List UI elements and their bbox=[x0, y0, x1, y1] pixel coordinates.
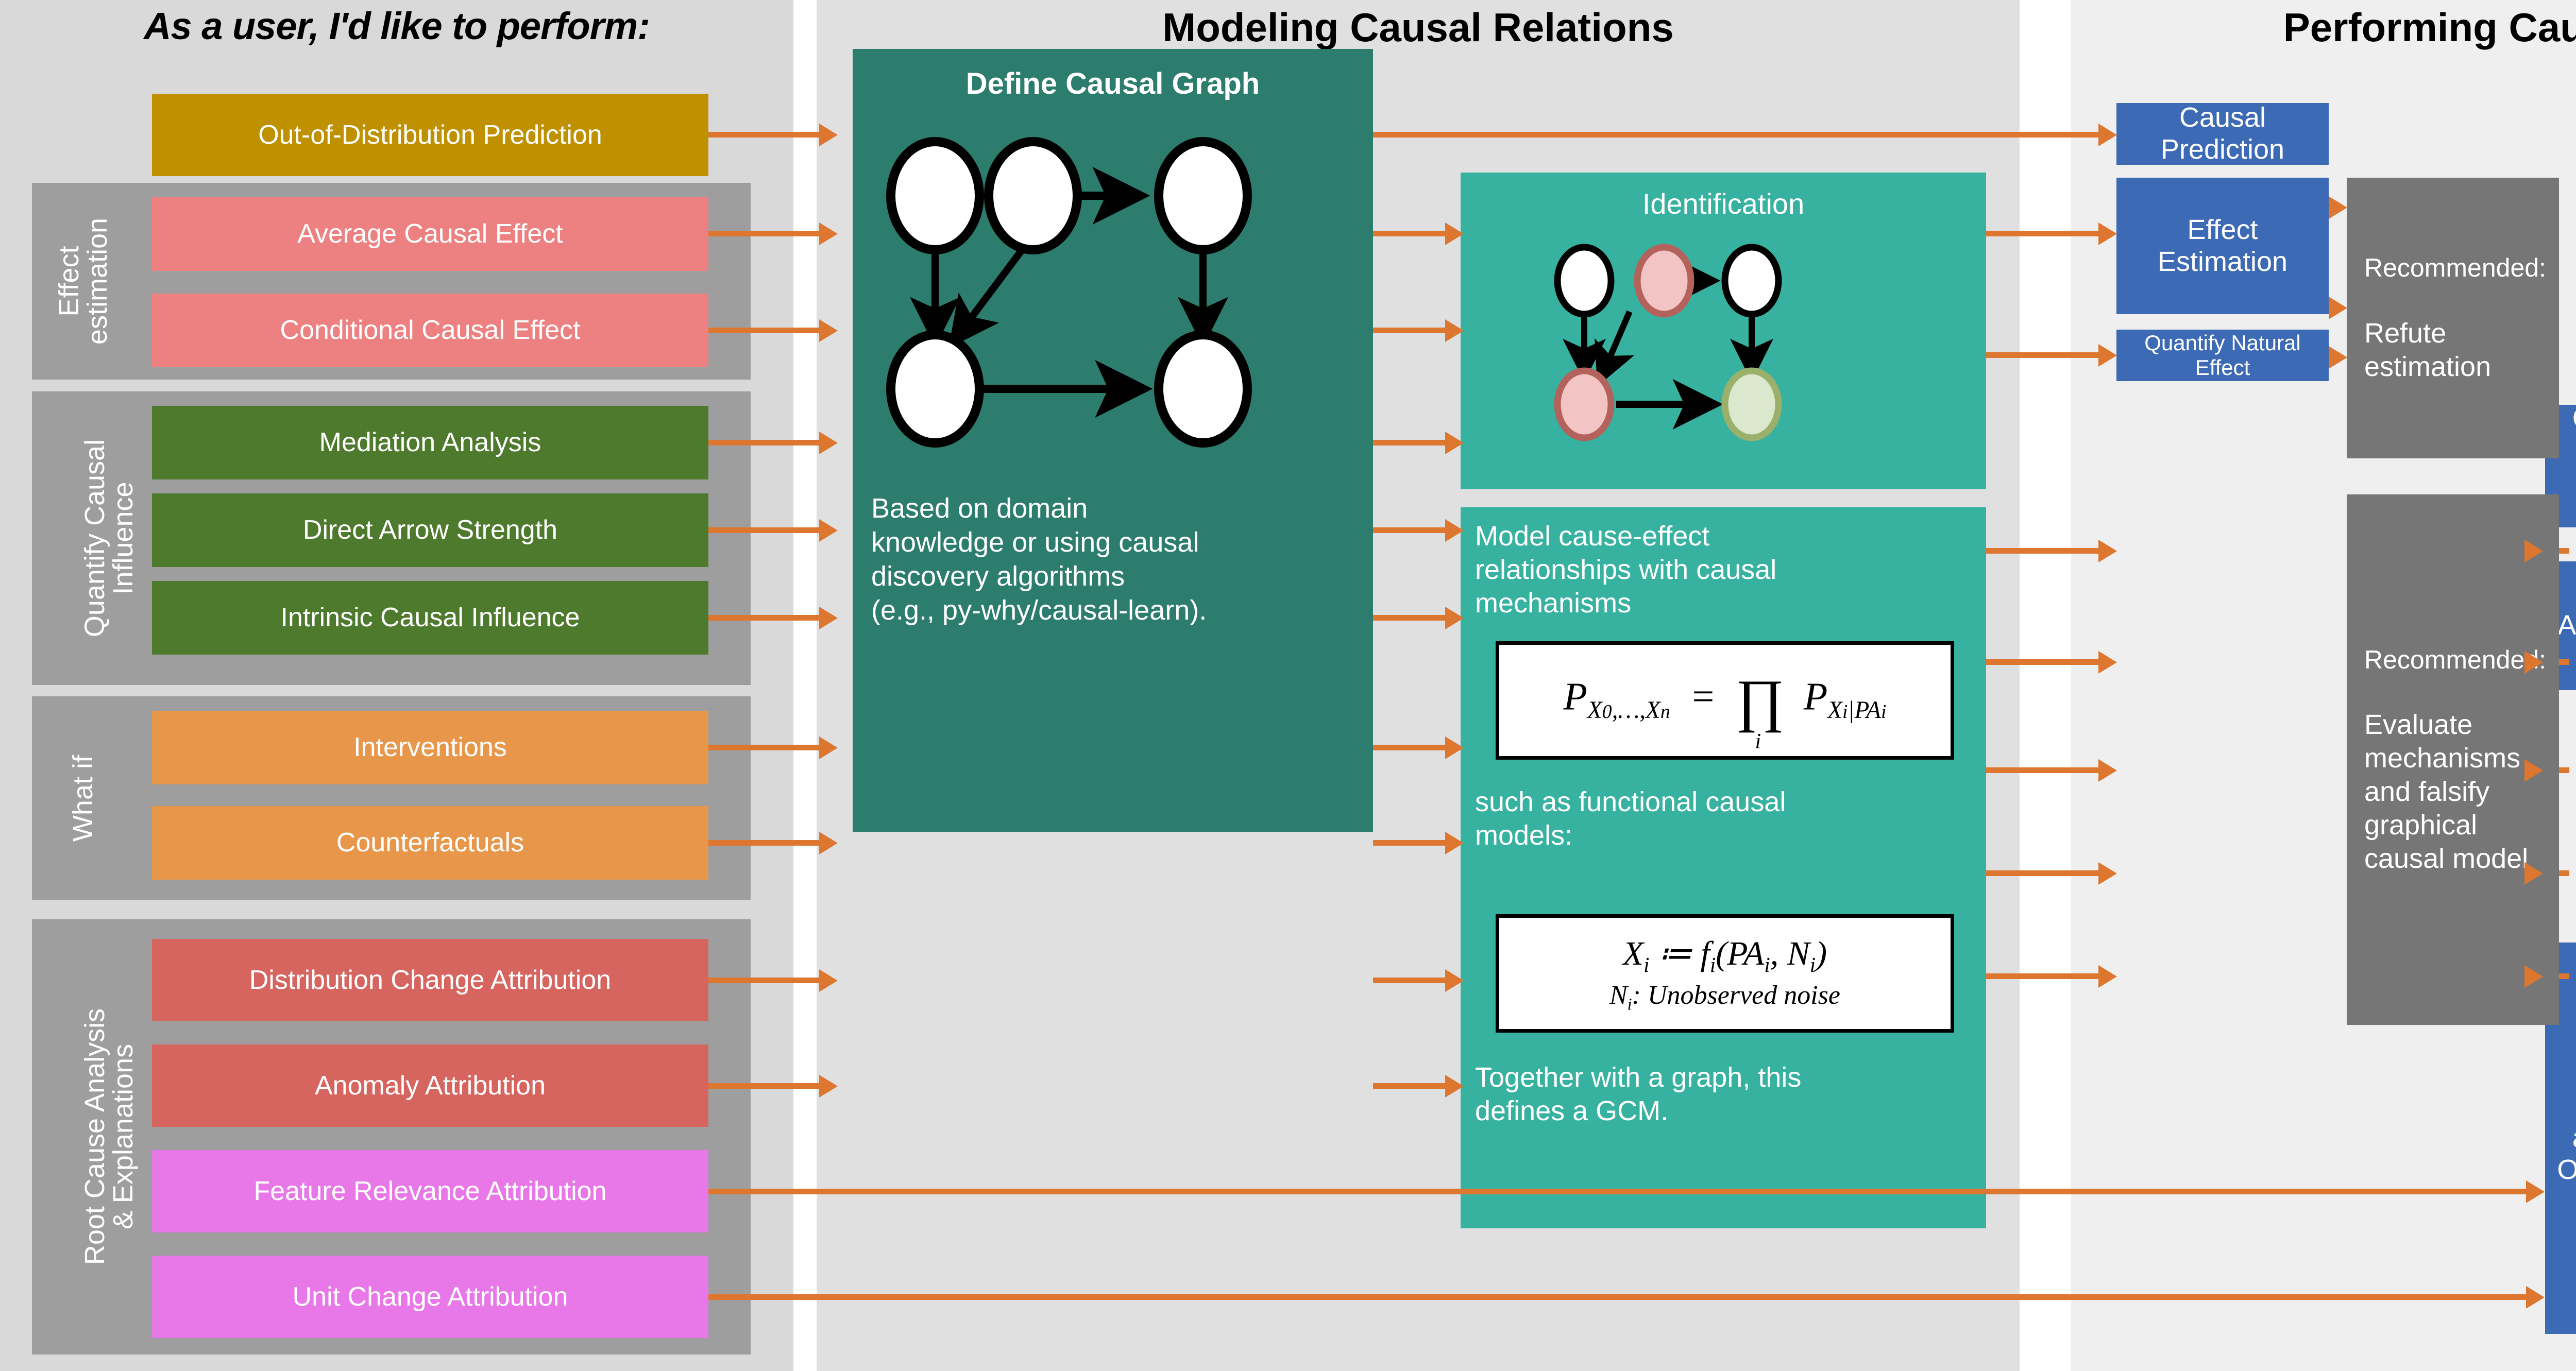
connector-evaluate-to-what-if-1 bbox=[2559, 767, 2569, 773]
connector-mechanism-to-recommendation-4 bbox=[1986, 870, 2098, 876]
group-label-effect-estimation: Effect estimation bbox=[58, 191, 109, 371]
graph-node bbox=[1159, 142, 1247, 250]
item-label: Average Causal Effect bbox=[297, 220, 563, 248]
connector-unit-change-long bbox=[708, 1294, 2526, 1300]
panel-left-title: As a user, I'd like to perform: bbox=[0, 4, 793, 48]
connector-arrowhead bbox=[2524, 759, 2543, 782]
connector-das-to-define bbox=[708, 527, 819, 533]
item-label: Unit Change Attribution bbox=[293, 1283, 568, 1311]
connector-arrowhead bbox=[819, 607, 838, 629]
connector-arrowhead bbox=[819, 319, 838, 342]
connector-define-to-mechanism-4 bbox=[1373, 745, 1445, 750]
task-effect-estimation[interactable]: Effect Estimation bbox=[2116, 178, 2329, 314]
item-distribution-change-attribution[interactable]: Distribution Change Attribution bbox=[152, 939, 708, 1021]
connector-arrowhead bbox=[819, 124, 838, 146]
item-conditional-causal-effect[interactable]: Conditional Causal Effect bbox=[152, 294, 708, 367]
connector-arrowhead bbox=[819, 432, 838, 454]
connector-arrowhead bbox=[2098, 540, 2117, 562]
connector-arrowhead bbox=[2526, 1180, 2545, 1203]
graph-node bbox=[989, 142, 1077, 250]
formula-structural-equation: Xi ≔ fi(PAi, Ni) Ni: Unobserved noise bbox=[1496, 914, 1954, 1033]
identification-box: Identification bbox=[1461, 173, 1986, 489]
formula-sem-line2: Ni: Unobserved noise bbox=[1609, 980, 1840, 1014]
task-label: Root-Causing and Explaining Observed Eff… bbox=[2553, 1091, 2576, 1186]
connector-arrowhead bbox=[1445, 319, 1464, 342]
graph-node bbox=[1725, 247, 1778, 314]
connector-ici-to-define bbox=[708, 615, 819, 621]
connector-counterfactuals-to-define bbox=[708, 840, 819, 846]
define-causal-graph-title: Define Causal Graph bbox=[853, 66, 1373, 101]
item-average-causal-effect[interactable]: Average Causal Effect bbox=[152, 197, 708, 271]
connector-identification-to-quantify-natural-effect bbox=[1986, 352, 2098, 358]
task-quantify-natural-effect[interactable]: Quantify Natural Effect bbox=[2116, 330, 2329, 381]
connector-mechanism-to-recommendation-2 bbox=[1986, 659, 2098, 665]
task-label: Quantify Natural Effect bbox=[2125, 331, 2320, 380]
connector-mediation-to-define bbox=[708, 440, 819, 445]
recommendation-refute-estimation: Recommended: Refute estimation bbox=[2347, 178, 2559, 458]
item-label: Interventions bbox=[353, 733, 507, 762]
connector-define-to-mechanism-5 bbox=[1373, 840, 1445, 846]
recommendation-body: Evaluate mechanisms and falsify graphica… bbox=[2364, 708, 2546, 875]
recommendation-lead: Recommended: bbox=[2364, 252, 2546, 283]
connector-arrowhead bbox=[2524, 862, 2543, 885]
formula-sem-line1: Xi ≔ fi(PAi, Ni) bbox=[1623, 933, 1827, 977]
task-label: Causal Prediction bbox=[2125, 102, 2320, 165]
connector-mechanism-to-recommendation-1 bbox=[1986, 548, 2098, 554]
connector-feature-relevance-long bbox=[708, 1189, 2526, 1194]
connector-define-to-causal-prediction bbox=[1373, 132, 2098, 138]
connector-arrowhead bbox=[2329, 346, 2347, 369]
connector-define-to-identification-1 bbox=[1373, 231, 1445, 236]
connector-arrowhead bbox=[2524, 540, 2543, 562]
recommendation-body: Refute estimation bbox=[2364, 317, 2546, 384]
graph-node bbox=[1557, 247, 1611, 314]
connector-arrowhead bbox=[1445, 969, 1464, 992]
item-label: Conditional Causal Effect bbox=[280, 316, 581, 345]
connector-arrowhead bbox=[2098, 651, 2117, 674]
connector-define-to-mechanism-6 bbox=[1373, 978, 1445, 983]
item-counterfactuals[interactable]: Counterfactuals bbox=[152, 806, 708, 880]
connector-arrowhead bbox=[2329, 297, 2347, 319]
connector-arrowhead bbox=[2526, 1286, 2545, 1309]
item-label: Out-of-Distribution Prediction bbox=[258, 121, 602, 149]
connector-define-to-mechanism-2 bbox=[1373, 527, 1445, 533]
group-label-quantify-causal-influence: Quantify Causal Influence bbox=[83, 391, 135, 685]
item-label: Mediation Analysis bbox=[319, 429, 541, 457]
connector-arrowhead bbox=[2098, 759, 2117, 782]
item-interventions[interactable]: Interventions bbox=[152, 711, 708, 784]
connector-arrowhead bbox=[1445, 432, 1464, 454]
identification-graph-svg bbox=[1553, 224, 1935, 482]
connector-arrowhead bbox=[2524, 651, 2543, 674]
mechanism-text-top: Model cause-effect relationships with ca… bbox=[1475, 520, 1970, 620]
connector-define-to-mechanism-7 bbox=[1373, 1083, 1445, 1089]
panel-right-title: Performing Causal Tasks bbox=[2071, 4, 2576, 51]
connector-arrowhead bbox=[1445, 607, 1464, 629]
define-causal-graph-note: Based on domain knowledge or using causa… bbox=[871, 492, 1350, 628]
graph-node bbox=[891, 335, 979, 443]
connector-cce-to-define bbox=[708, 328, 819, 333]
graph-node bbox=[1159, 335, 1247, 443]
item-label: Intrinsic Causal Influence bbox=[281, 604, 580, 632]
connector-arrowhead bbox=[1445, 519, 1464, 542]
causal-mechanism-box: Model cause-effect relationships with ca… bbox=[1461, 507, 1986, 1228]
connector-arrowhead bbox=[2098, 965, 2117, 988]
connector-dca-to-define bbox=[708, 978, 819, 983]
item-label: Counterfactuals bbox=[336, 829, 524, 857]
group-label-root-cause-analysis: Root Cause Analysis & Explanations bbox=[83, 928, 135, 1345]
item-out-of-distribution-prediction[interactable]: Out-of-Distribution Prediction bbox=[152, 94, 708, 176]
connector-arrowhead bbox=[1445, 832, 1464, 854]
connector-anomaly-to-define bbox=[708, 1083, 819, 1089]
item-direct-arrow-strength[interactable]: Direct Arrow Strength bbox=[152, 493, 708, 567]
connector-arrowhead bbox=[2524, 965, 2543, 988]
connector-evaluate-to-what-if-2 bbox=[2559, 870, 2569, 876]
item-label: Anomaly Attribution bbox=[315, 1072, 546, 1100]
recommendation-lead: Recommended: bbox=[2364, 644, 2546, 675]
connector-arrowhead bbox=[819, 736, 838, 759]
connector-arrowhead bbox=[819, 1075, 838, 1098]
item-feature-relevance-attribution[interactable]: Feature Relevance Attribution bbox=[152, 1150, 708, 1232]
connector-arrowhead bbox=[2098, 862, 2117, 885]
panel-mid-title: Modeling Causal Relations bbox=[817, 4, 2020, 51]
item-unit-change-attribution[interactable]: Unit Change Attribution bbox=[152, 1256, 708, 1338]
connector-arrowhead bbox=[819, 832, 838, 854]
item-intrinsic-causal-influence[interactable]: Intrinsic Causal Influence bbox=[152, 581, 708, 655]
define-causal-graph-box: Define Causal Graph Based on domain know… bbox=[853, 49, 1373, 832]
connector-define-to-mechanism-1 bbox=[1373, 440, 1445, 445]
connector-arrowhead bbox=[2098, 124, 2117, 146]
formula-joint-factorization: PX0,…,Xn = ∏ i PXi|PAi bbox=[1496, 641, 1954, 760]
connector-arrowhead bbox=[819, 519, 838, 542]
mechanism-text-bottom: Together with a graph, this defines a GC… bbox=[1475, 1061, 1970, 1128]
connector-arrowhead bbox=[1445, 1075, 1464, 1098]
graph-node bbox=[1725, 371, 1778, 438]
connector-arrowhead bbox=[2329, 196, 2347, 219]
connector-arrowhead bbox=[819, 969, 838, 992]
connector-arrowhead bbox=[1445, 222, 1464, 245]
connector-mechanism-to-recommendation-5 bbox=[1986, 973, 2098, 979]
connector-arrowhead bbox=[1445, 736, 1464, 759]
item-label: Direct Arrow Strength bbox=[303, 516, 557, 544]
diagram-canvas: As a user, I'd like to perform: Out-of-D… bbox=[0, 0, 2576, 1371]
group-label-what-if: What if bbox=[58, 724, 109, 873]
graph-node bbox=[891, 142, 979, 250]
task-label: Effect Estimation bbox=[2125, 214, 2320, 278]
connector-identification-to-effect-estimation bbox=[1986, 231, 2098, 236]
identification-title: Identification bbox=[1461, 187, 1986, 220]
connector-evaluate-to-quantify-arrow-2 bbox=[2559, 659, 2569, 665]
graph-node bbox=[1557, 371, 1611, 438]
formula-joint-text: PX0,…,Xn = ∏ i PXi|PAi bbox=[1564, 666, 1887, 734]
item-mediation-analysis[interactable]: Mediation Analysis bbox=[152, 406, 708, 479]
connector-evaluate-to-quantify-arrow-1 bbox=[2559, 548, 2569, 554]
item-anomaly-attribution[interactable]: Anomaly Attribution bbox=[152, 1044, 708, 1127]
connector-arrowhead bbox=[2098, 222, 2117, 245]
causal-graph-svg bbox=[863, 116, 1363, 487]
connector-define-to-identification-2 bbox=[1373, 328, 1445, 333]
connector-ace-to-define bbox=[708, 231, 819, 236]
connector-arrowhead bbox=[2098, 344, 2117, 367]
mechanism-text-middle: such as functional causal models: bbox=[1475, 785, 1970, 852]
item-label: Feature Relevance Attribution bbox=[253, 1177, 606, 1206]
connector-define-to-mechanism-3 bbox=[1373, 615, 1445, 621]
task-causal-prediction[interactable]: Causal Prediction bbox=[2116, 103, 2329, 165]
connector-mechanism-to-recommendation-3 bbox=[1986, 767, 2098, 773]
connector-interventions-to-define bbox=[708, 745, 819, 750]
connector-ood-to-define bbox=[708, 132, 819, 138]
connector-evaluate-to-root-causing bbox=[2559, 973, 2569, 979]
graph-node bbox=[1637, 247, 1691, 314]
panel-user-goals: As a user, I'd like to perform: Out-of-D… bbox=[0, 0, 793, 1371]
connector-arrowhead bbox=[819, 222, 838, 245]
item-label: Distribution Change Attribution bbox=[249, 966, 611, 995]
